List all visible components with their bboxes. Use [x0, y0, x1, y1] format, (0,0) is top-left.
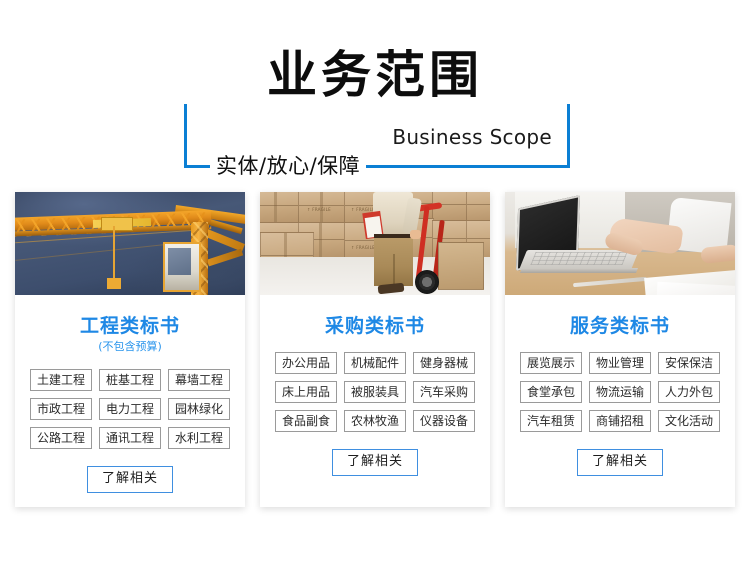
card-tag-list: 展览展示 物业管理 安保保洁 食堂承包 物流运输 人力外包 汽车租赁 商铺招租 …	[505, 352, 735, 432]
page-header: 业务范围 Business Scope 实体/放心/保障	[0, 0, 750, 190]
card-tag[interactable]: 幕墙工程	[168, 369, 230, 391]
card-tag[interactable]: 公路工程	[30, 427, 92, 449]
page-subtitle-en-text: Business Scope	[388, 125, 556, 149]
card-title: 工程类标书	[15, 314, 245, 338]
card-tag[interactable]: 园林绿化	[168, 398, 230, 420]
card-subtitle: (不包含预算)	[15, 339, 245, 355]
page-subtitle-cn: 实体/放心/保障	[184, 152, 570, 180]
page-title-text: 业务范围	[261, 46, 489, 104]
card-tag[interactable]: 汽车租赁	[520, 410, 582, 432]
service-card-engineering[interactable]: 工程类标书 (不包含预算) 土建工程 桩基工程 幕墙工程 市政工程 电力工程 园…	[15, 192, 245, 507]
learn-more-button[interactable]: 了解相关	[332, 449, 418, 476]
card-image-tower-crane	[15, 192, 245, 295]
card-tag[interactable]: 展览展示	[520, 352, 582, 374]
card-tag[interactable]: 被服装具	[344, 381, 406, 403]
card-cta-wrap: 了解相关	[505, 449, 735, 476]
card-tag-list: 办公用品 机械配件 健身器械 床上用品 被服装具 汽车采购 食品副食 农林牧渔 …	[260, 352, 490, 432]
card-tag[interactable]: 市政工程	[30, 398, 92, 420]
card-image-warehouse-boxes: ↑ FRAGILE ↑ FRAGILE ↑ FRAGILE ↑ FRAGILE	[260, 192, 490, 295]
card-tag[interactable]: 食品副食	[275, 410, 337, 432]
card-cta-wrap: 了解相关	[260, 449, 490, 476]
card-tag[interactable]: 安保保洁	[658, 352, 720, 374]
service-card-procurement[interactable]: ↑ FRAGILE ↑ FRAGILE ↑ FRAGILE ↑ FRAGILE	[260, 192, 490, 507]
card-tag[interactable]: 商铺招租	[589, 410, 651, 432]
learn-more-button[interactable]: 了解相关	[577, 449, 663, 476]
card-tag[interactable]: 办公用品	[275, 352, 337, 374]
card-tag[interactable]: 床上用品	[275, 381, 337, 403]
card-tag[interactable]: 文化活动	[658, 410, 720, 432]
card-tag[interactable]: 仪器设备	[413, 410, 475, 432]
card-tag[interactable]: 通讯工程	[99, 427, 161, 449]
card-tag-list: 土建工程 桩基工程 幕墙工程 市政工程 电力工程 园林绿化 公路工程 通讯工程 …	[15, 369, 245, 449]
service-card-services[interactable]: 服务类标书 展览展示 物业管理 安保保洁 食堂承包 物流运输 人力外包 汽车租赁…	[505, 192, 735, 507]
card-tag[interactable]: 物流运输	[589, 381, 651, 403]
card-tag[interactable]: 物业管理	[589, 352, 651, 374]
card-tag[interactable]: 人力外包	[658, 381, 720, 403]
service-card-list: 工程类标书 (不包含预算) 土建工程 桩基工程 幕墙工程 市政工程 电力工程 园…	[0, 192, 750, 507]
card-image-laptop-desk	[505, 192, 735, 295]
page-title: 业务范围	[0, 44, 750, 104]
card-tag[interactable]: 食堂承包	[520, 381, 582, 403]
card-title: 服务类标书	[505, 314, 735, 338]
page-subtitle-cn-text: 实体/放心/保障	[210, 154, 366, 178]
card-tag[interactable]: 电力工程	[99, 398, 161, 420]
card-tag[interactable]: 农林牧渔	[344, 410, 406, 432]
card-tag[interactable]: 水利工程	[168, 427, 230, 449]
card-tag[interactable]: 健身器械	[413, 352, 475, 374]
learn-more-button[interactable]: 了解相关	[87, 466, 173, 493]
card-tag[interactable]: 汽车采购	[413, 381, 475, 403]
card-cta-wrap: 了解相关	[15, 466, 245, 493]
card-tag[interactable]: 土建工程	[30, 369, 92, 391]
page-subtitle-en: Business Scope	[184, 124, 570, 150]
card-tag[interactable]: 机械配件	[344, 352, 406, 374]
card-title: 采购类标书	[260, 314, 490, 338]
card-tag[interactable]: 桩基工程	[99, 369, 161, 391]
